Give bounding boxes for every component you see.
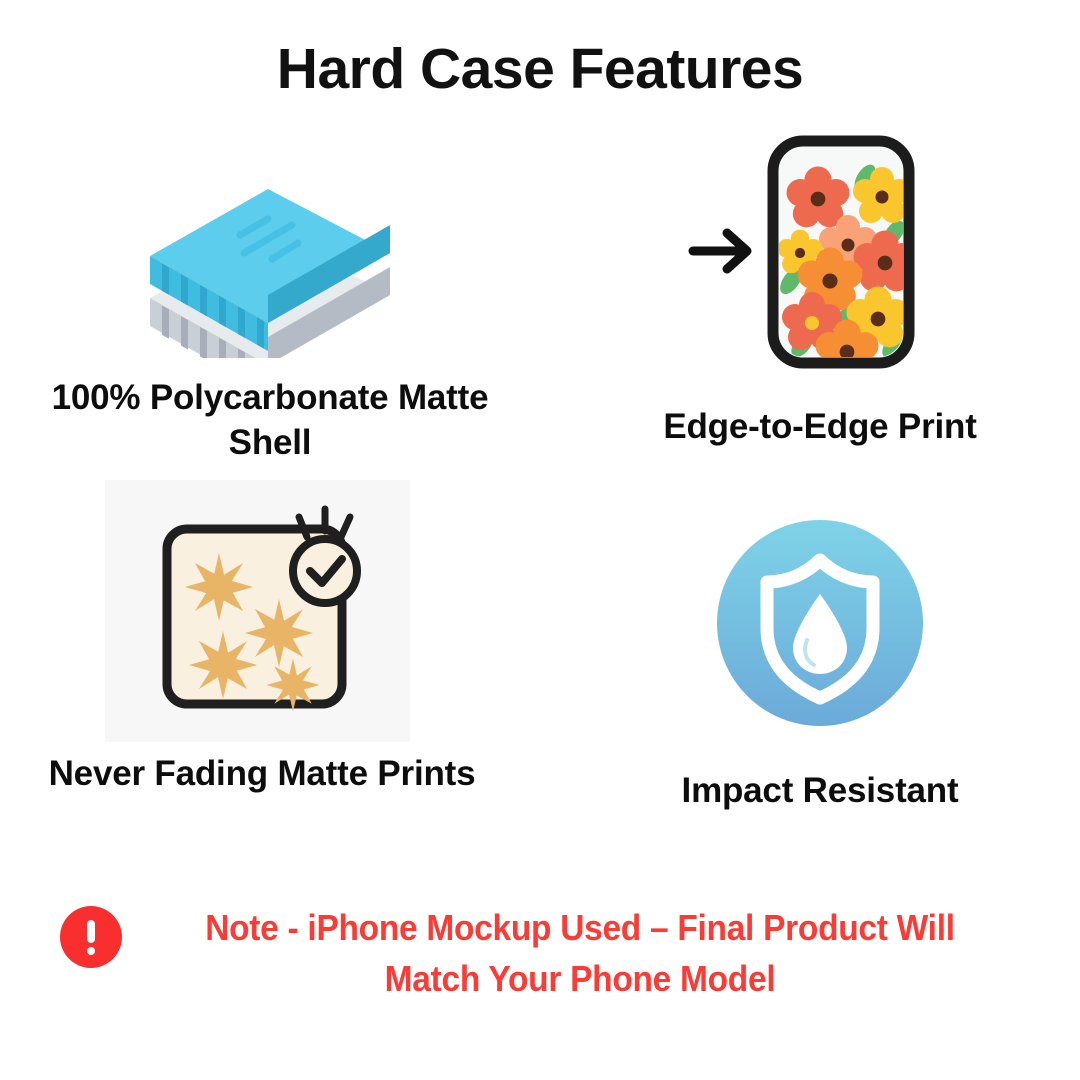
shield-droplet-icon-wrap bbox=[575, 500, 1065, 745]
exclamation-dot bbox=[87, 947, 95, 955]
exclamation-stem bbox=[87, 920, 95, 943]
layered-slabs-icon-wrap bbox=[20, 160, 520, 360]
floral-pattern bbox=[776, 161, 917, 373]
sparkle-panel-verified-icon bbox=[137, 487, 387, 737]
note-text: Note - iPhone Mockup Used – Final Produc… bbox=[171, 902, 989, 1004]
shield-droplet-icon bbox=[715, 518, 925, 728]
exclamation-badge-icon bbox=[60, 906, 122, 968]
feature-edge-print: Edge-to-Edge Print bbox=[575, 130, 1065, 450]
phone-case-floral-print-icon-wrap bbox=[575, 130, 1065, 375]
note-bar: Note - iPhone Mockup Used – Final Produc… bbox=[0, 902, 1080, 1004]
feature-never-fading: Never Fading Matte Prints bbox=[12, 478, 512, 797]
feature-label-impact: Impact Resistant bbox=[575, 769, 1065, 814]
feature-label-polycarbonate: 100% Polycarbonate Matte Shell bbox=[20, 376, 520, 466]
feature-polycarbonate: 100% Polycarbonate Matte Shell bbox=[20, 160, 520, 466]
arrow-right-icon bbox=[693, 233, 747, 269]
feature-label-never-fading: Never Fading Matte Prints bbox=[12, 752, 512, 797]
layered-slabs-icon bbox=[140, 163, 400, 358]
feature-impact-resistant: Impact Resistant bbox=[575, 500, 1065, 814]
page-title: Hard Case Features bbox=[0, 36, 1080, 102]
feature-label-edge-print: Edge-to-Edge Print bbox=[575, 405, 1065, 450]
verified-check-badge-icon bbox=[293, 509, 357, 603]
infographic-page: Hard Case Features bbox=[0, 0, 1080, 1080]
phone-case-floral-print-icon bbox=[685, 133, 955, 373]
sparkle-panel-verified-icon-wrap bbox=[12, 478, 512, 746]
shine-rays bbox=[299, 509, 350, 537]
